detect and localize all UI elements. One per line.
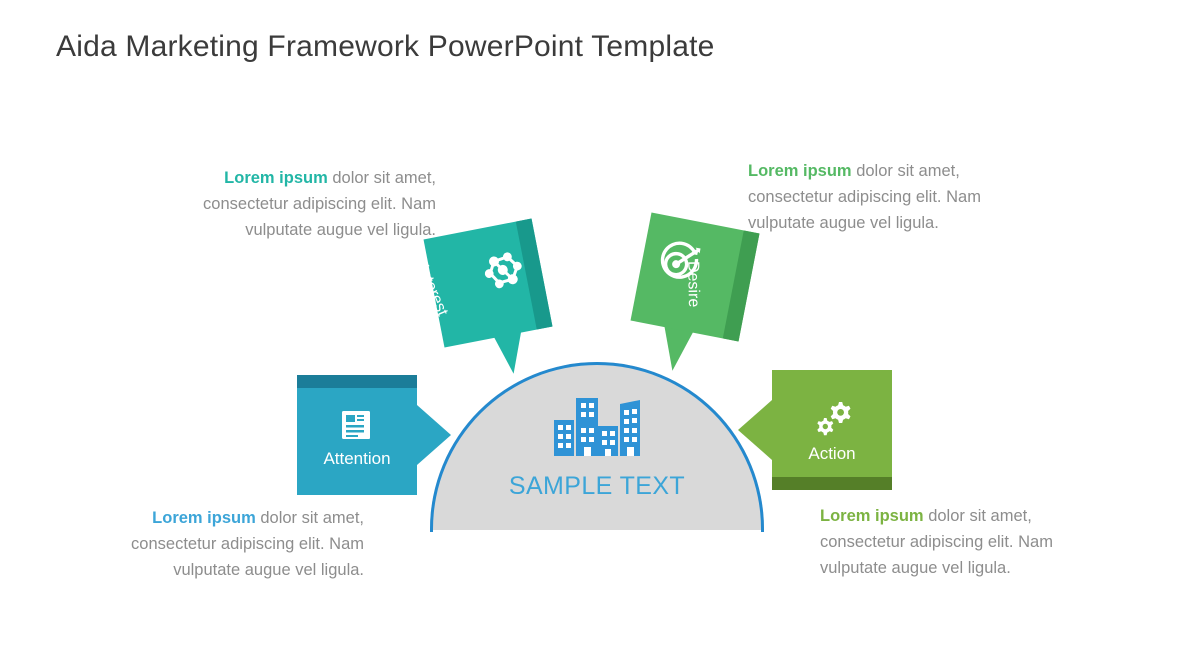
molecule-network-icon <box>475 243 531 299</box>
stage-card-action-strip <box>772 477 892 490</box>
slide-canvas: Aida Marketing Framework PowerPoint Temp… <box>0 0 1180 664</box>
gears-icon <box>810 398 854 442</box>
description-attention: Lorem ipsum dolor sit amet, consectetur … <box>96 505 364 583</box>
description-action-lead: Lorem ipsum <box>820 507 924 525</box>
stage-card-attention-strip <box>297 375 417 388</box>
description-desire: Lorem ipsum dolor sit amet, consectetur … <box>748 158 1028 236</box>
city-buildings-icon <box>554 394 640 456</box>
stage-card-interest[interactable]: Interest <box>424 219 553 348</box>
description-interest-lead: Lorem ipsum <box>224 169 328 187</box>
description-interest: Lorem ipsum dolor sit amet, consectetur … <box>178 165 436 243</box>
stage-card-attention[interactable]: Attention <box>297 375 417 495</box>
stage-card-action[interactable]: Action <box>772 370 892 490</box>
newspaper-icon <box>335 403 379 447</box>
stage-card-desire[interactable]: Desire <box>631 213 760 342</box>
description-desire-lead: Lorem ipsum <box>748 162 852 180</box>
stage-card-desire-label: Desire <box>683 261 702 308</box>
center-sample-text: SAMPLE TEXT <box>430 472 764 501</box>
stage-card-action-label: Action <box>772 444 892 464</box>
description-attention-lead: Lorem ipsum <box>152 509 256 527</box>
page-title: Aida Marketing Framework PowerPoint Temp… <box>56 30 715 64</box>
center-dome-group[interactable]: SAMPLE TEXT <box>430 362 764 530</box>
description-action: Lorem ipsum dolor sit amet, consectetur … <box>820 503 1098 581</box>
stage-card-attention-label: Attention <box>297 449 417 469</box>
